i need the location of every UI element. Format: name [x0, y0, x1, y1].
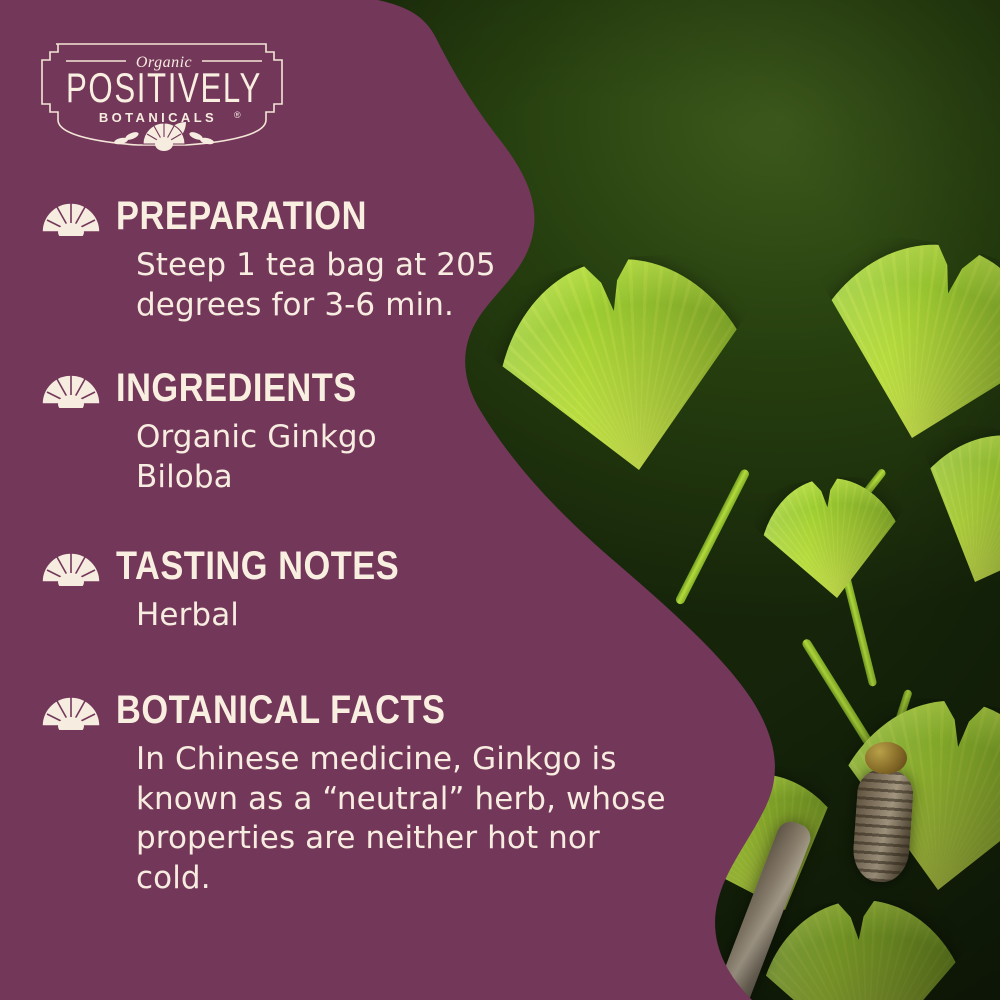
section-tasting-notes: TASTING NOTES Herbal — [40, 546, 445, 636]
section-title: PREPARATION — [116, 196, 367, 236]
section-title: TASTING NOTES — [116, 546, 399, 586]
section-body: Herbal — [136, 596, 445, 636]
section-title: BOTANICAL FACTS — [116, 690, 445, 730]
fan-icon — [40, 196, 102, 236]
fan-icon — [40, 546, 102, 586]
fan-icon — [40, 368, 102, 408]
section-header: TASTING NOTES — [40, 546, 445, 586]
product-info-card: Organic POSITIVELY BOTANICALS ® — [0, 0, 1000, 1000]
logo-name: POSITIVELY — [66, 64, 262, 111]
panel-content: Organic POSITIVELY BOTANICALS ® — [0, 0, 1000, 1000]
section-header: PREPARATION — [40, 196, 496, 236]
section-body: Organic Ginkgo Biloba — [136, 418, 396, 497]
logo-subtitle: BOTANICALS — [99, 110, 217, 125]
section-header: INGREDIENTS — [40, 368, 396, 408]
section-body: In Chinese medicine, Ginkgo is known as … — [136, 740, 666, 899]
section-body: Steep 1 tea bag at 205 degrees for 3-6 m… — [136, 246, 496, 325]
brand-logo[interactable]: Organic POSITIVELY BOTANICALS ® — [34, 30, 290, 158]
section-title: INGREDIENTS — [116, 368, 357, 408]
logo-fan-ornament — [114, 122, 215, 151]
section-header: BOTANICAL FACTS — [40, 690, 666, 730]
section-preparation: PREPARATION Steep 1 tea bag at 205 degre… — [40, 196, 496, 325]
logo-registered-mark: ® — [234, 110, 241, 120]
section-ingredients: INGREDIENTS Organic Ginkgo Biloba — [40, 368, 396, 497]
fan-icon — [40, 690, 102, 730]
section-botanical-facts: BOTANICAL FACTS In Chinese medicine, Gin… — [40, 690, 666, 899]
